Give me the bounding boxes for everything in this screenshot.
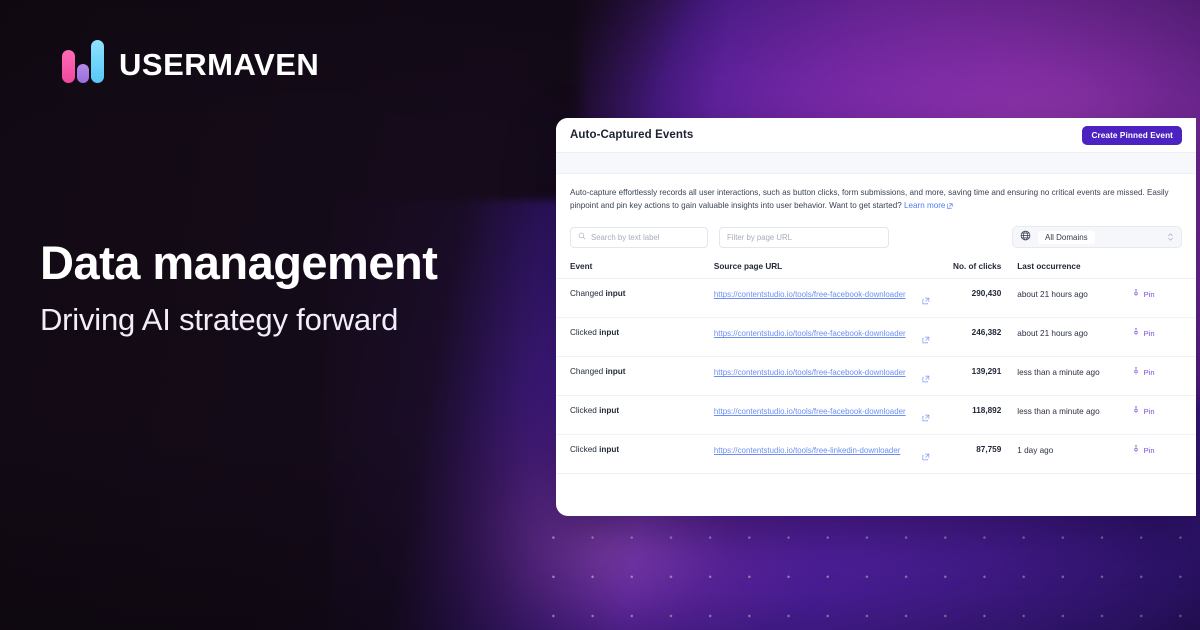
pin-button[interactable]: Pin xyxy=(1132,328,1196,338)
pin-button[interactable]: Pin xyxy=(1132,406,1196,416)
event-target: input xyxy=(599,328,619,337)
table-row[interactable]: Clicked inputhttps://contentstudio.io/to… xyxy=(556,396,1196,435)
url-filter-placeholder: Filter by page URL xyxy=(727,233,792,242)
table-row[interactable]: Changed inputhttps://contentstudio.io/to… xyxy=(556,279,1196,318)
chevron-updown-icon[interactable] xyxy=(1167,232,1174,242)
cell-pin: Pin xyxy=(1132,318,1196,357)
source-url-link[interactable]: https://contentstudio.io/tools/free-face… xyxy=(714,406,916,417)
pin-button[interactable]: Pin xyxy=(1132,289,1196,299)
event-action: Clicked xyxy=(570,445,599,454)
search-input-placeholder: Search by text label xyxy=(591,233,659,242)
column-header-last-occurrence: Last occurrence xyxy=(1017,262,1131,279)
column-header-source-url: Source page URL xyxy=(714,262,938,279)
pin-label: Pin xyxy=(1144,290,1155,299)
cell-source-url: https://contentstudio.io/tools/free-face… xyxy=(714,318,938,357)
globe-icon xyxy=(1020,228,1031,246)
cell-clicks: 290,430 xyxy=(938,279,1017,318)
brand-logo: USERMAVEN xyxy=(62,40,319,88)
hero-text-block: Data management Driving AI strategy forw… xyxy=(40,238,437,337)
logo-bar-purple xyxy=(77,64,89,83)
cell-clicks: 246,382 xyxy=(938,318,1017,357)
pin-icon xyxy=(1132,328,1140,338)
cell-source-url: https://contentstudio.io/tools/free-link… xyxy=(714,435,938,474)
column-header-event: Event xyxy=(556,262,714,279)
learn-more-link[interactable]: Learn more xyxy=(904,201,945,210)
external-link-icon[interactable] xyxy=(922,336,930,346)
cell-pin: Pin xyxy=(1132,357,1196,396)
cell-last-occurrence: 1 day ago xyxy=(1017,435,1131,474)
event-target: input xyxy=(599,445,619,454)
cell-pin: Pin xyxy=(1132,279,1196,318)
cell-pin: Pin xyxy=(1132,396,1196,435)
cell-clicks: 87,759 xyxy=(938,435,1017,474)
pin-button[interactable]: Pin xyxy=(1132,367,1196,377)
search-input[interactable]: Search by text label xyxy=(570,227,708,248)
external-link-icon[interactable] xyxy=(922,414,930,424)
table-row[interactable]: Clicked inputhttps://contentstudio.io/to… xyxy=(556,435,1196,474)
table-row[interactable]: Clicked inputhttps://contentstudio.io/to… xyxy=(556,318,1196,357)
pin-button[interactable]: Pin xyxy=(1132,445,1196,455)
logo-bar-pink xyxy=(62,50,75,83)
event-action: Clicked xyxy=(570,406,599,415)
cell-event: Clicked input xyxy=(556,435,714,474)
cell-event: Clicked input xyxy=(556,318,714,357)
create-pinned-event-button[interactable]: Create Pinned Event xyxy=(1082,126,1182,145)
table-row[interactable]: Changed inputhttps://contentstudio.io/to… xyxy=(556,357,1196,396)
event-action: Clicked xyxy=(570,328,599,337)
usermaven-bars-icon xyxy=(62,40,106,88)
cell-last-occurrence: about 21 hours ago xyxy=(1017,279,1131,318)
card-title: Auto-Captured Events xyxy=(570,129,693,141)
pin-icon xyxy=(1132,445,1140,455)
source-url-link[interactable]: https://contentstudio.io/tools/free-face… xyxy=(714,328,916,339)
cell-source-url: https://contentstudio.io/tools/free-face… xyxy=(714,357,938,396)
event-action: Changed xyxy=(570,289,606,298)
source-url-link[interactable]: https://contentstudio.io/tools/free-face… xyxy=(714,289,916,300)
cell-last-occurrence: less than a minute ago xyxy=(1017,357,1131,396)
cell-source-url: https://contentstudio.io/tools/free-face… xyxy=(714,396,938,435)
cell-source-url: https://contentstudio.io/tools/free-face… xyxy=(714,279,938,318)
auto-captured-events-card: Auto-Captured Events Create Pinned Event… xyxy=(556,118,1196,516)
pin-icon xyxy=(1132,289,1140,299)
page-url-filter-input[interactable]: Filter by page URL xyxy=(719,227,889,248)
description-text: Auto-capture effortlessly records all us… xyxy=(570,188,1169,210)
pin-icon xyxy=(1132,406,1140,416)
domain-select[interactable]: All Domains xyxy=(1012,226,1182,248)
table-header-row: Event Source page URL No. of clicks Last… xyxy=(556,262,1196,279)
pin-icon xyxy=(1132,367,1140,377)
external-link-icon[interactable] xyxy=(922,453,930,463)
card-description: Auto-capture effortlessly records all us… xyxy=(556,174,1196,212)
events-table-head: Event Source page URL No. of clicks Last… xyxy=(556,262,1196,279)
cell-event: Changed input xyxy=(556,357,714,396)
event-target: input xyxy=(606,289,626,298)
cell-event: Clicked input xyxy=(556,396,714,435)
search-icon xyxy=(578,232,586,242)
pin-label: Pin xyxy=(1144,368,1155,377)
source-url-link[interactable]: https://contentstudio.io/tools/free-face… xyxy=(714,367,916,378)
brand-wordmark: USERMAVEN xyxy=(119,49,319,80)
logo-bar-cyan xyxy=(91,40,104,83)
external-link-icon[interactable] xyxy=(922,297,930,307)
column-header-pin xyxy=(1132,262,1196,279)
cell-event: Changed input xyxy=(556,279,714,318)
card-header: Auto-Captured Events Create Pinned Event xyxy=(556,118,1196,153)
cell-clicks: 139,291 xyxy=(938,357,1017,396)
cell-last-occurrence: about 21 hours ago xyxy=(1017,318,1131,357)
pin-label: Pin xyxy=(1144,407,1155,416)
event-target: input xyxy=(599,406,619,415)
pin-label: Pin xyxy=(1144,446,1155,455)
events-table: Event Source page URL No. of clicks Last… xyxy=(556,262,1196,474)
cell-last-occurrence: less than a minute ago xyxy=(1017,396,1131,435)
external-link-icon[interactable] xyxy=(922,375,930,385)
event-target: input xyxy=(606,367,626,376)
cell-pin: Pin xyxy=(1132,435,1196,474)
source-url-link[interactable]: https://contentstudio.io/tools/free-link… xyxy=(714,445,916,456)
page-title: Data management xyxy=(40,238,437,289)
column-header-clicks: No. of clicks xyxy=(938,262,1017,279)
event-action: Changed xyxy=(570,367,606,376)
filter-bar: Search by text label Filter by page URL … xyxy=(556,212,1196,248)
pin-label: Pin xyxy=(1144,329,1155,338)
domain-select-value: All Domains xyxy=(1038,231,1095,244)
cell-clicks: 118,892 xyxy=(938,396,1017,435)
external-link-icon xyxy=(947,200,953,206)
page-subtitle: Driving AI strategy forward xyxy=(40,303,437,338)
card-subheader-strip xyxy=(556,153,1196,174)
events-table-body: Changed inputhttps://contentstudio.io/to… xyxy=(556,279,1196,474)
